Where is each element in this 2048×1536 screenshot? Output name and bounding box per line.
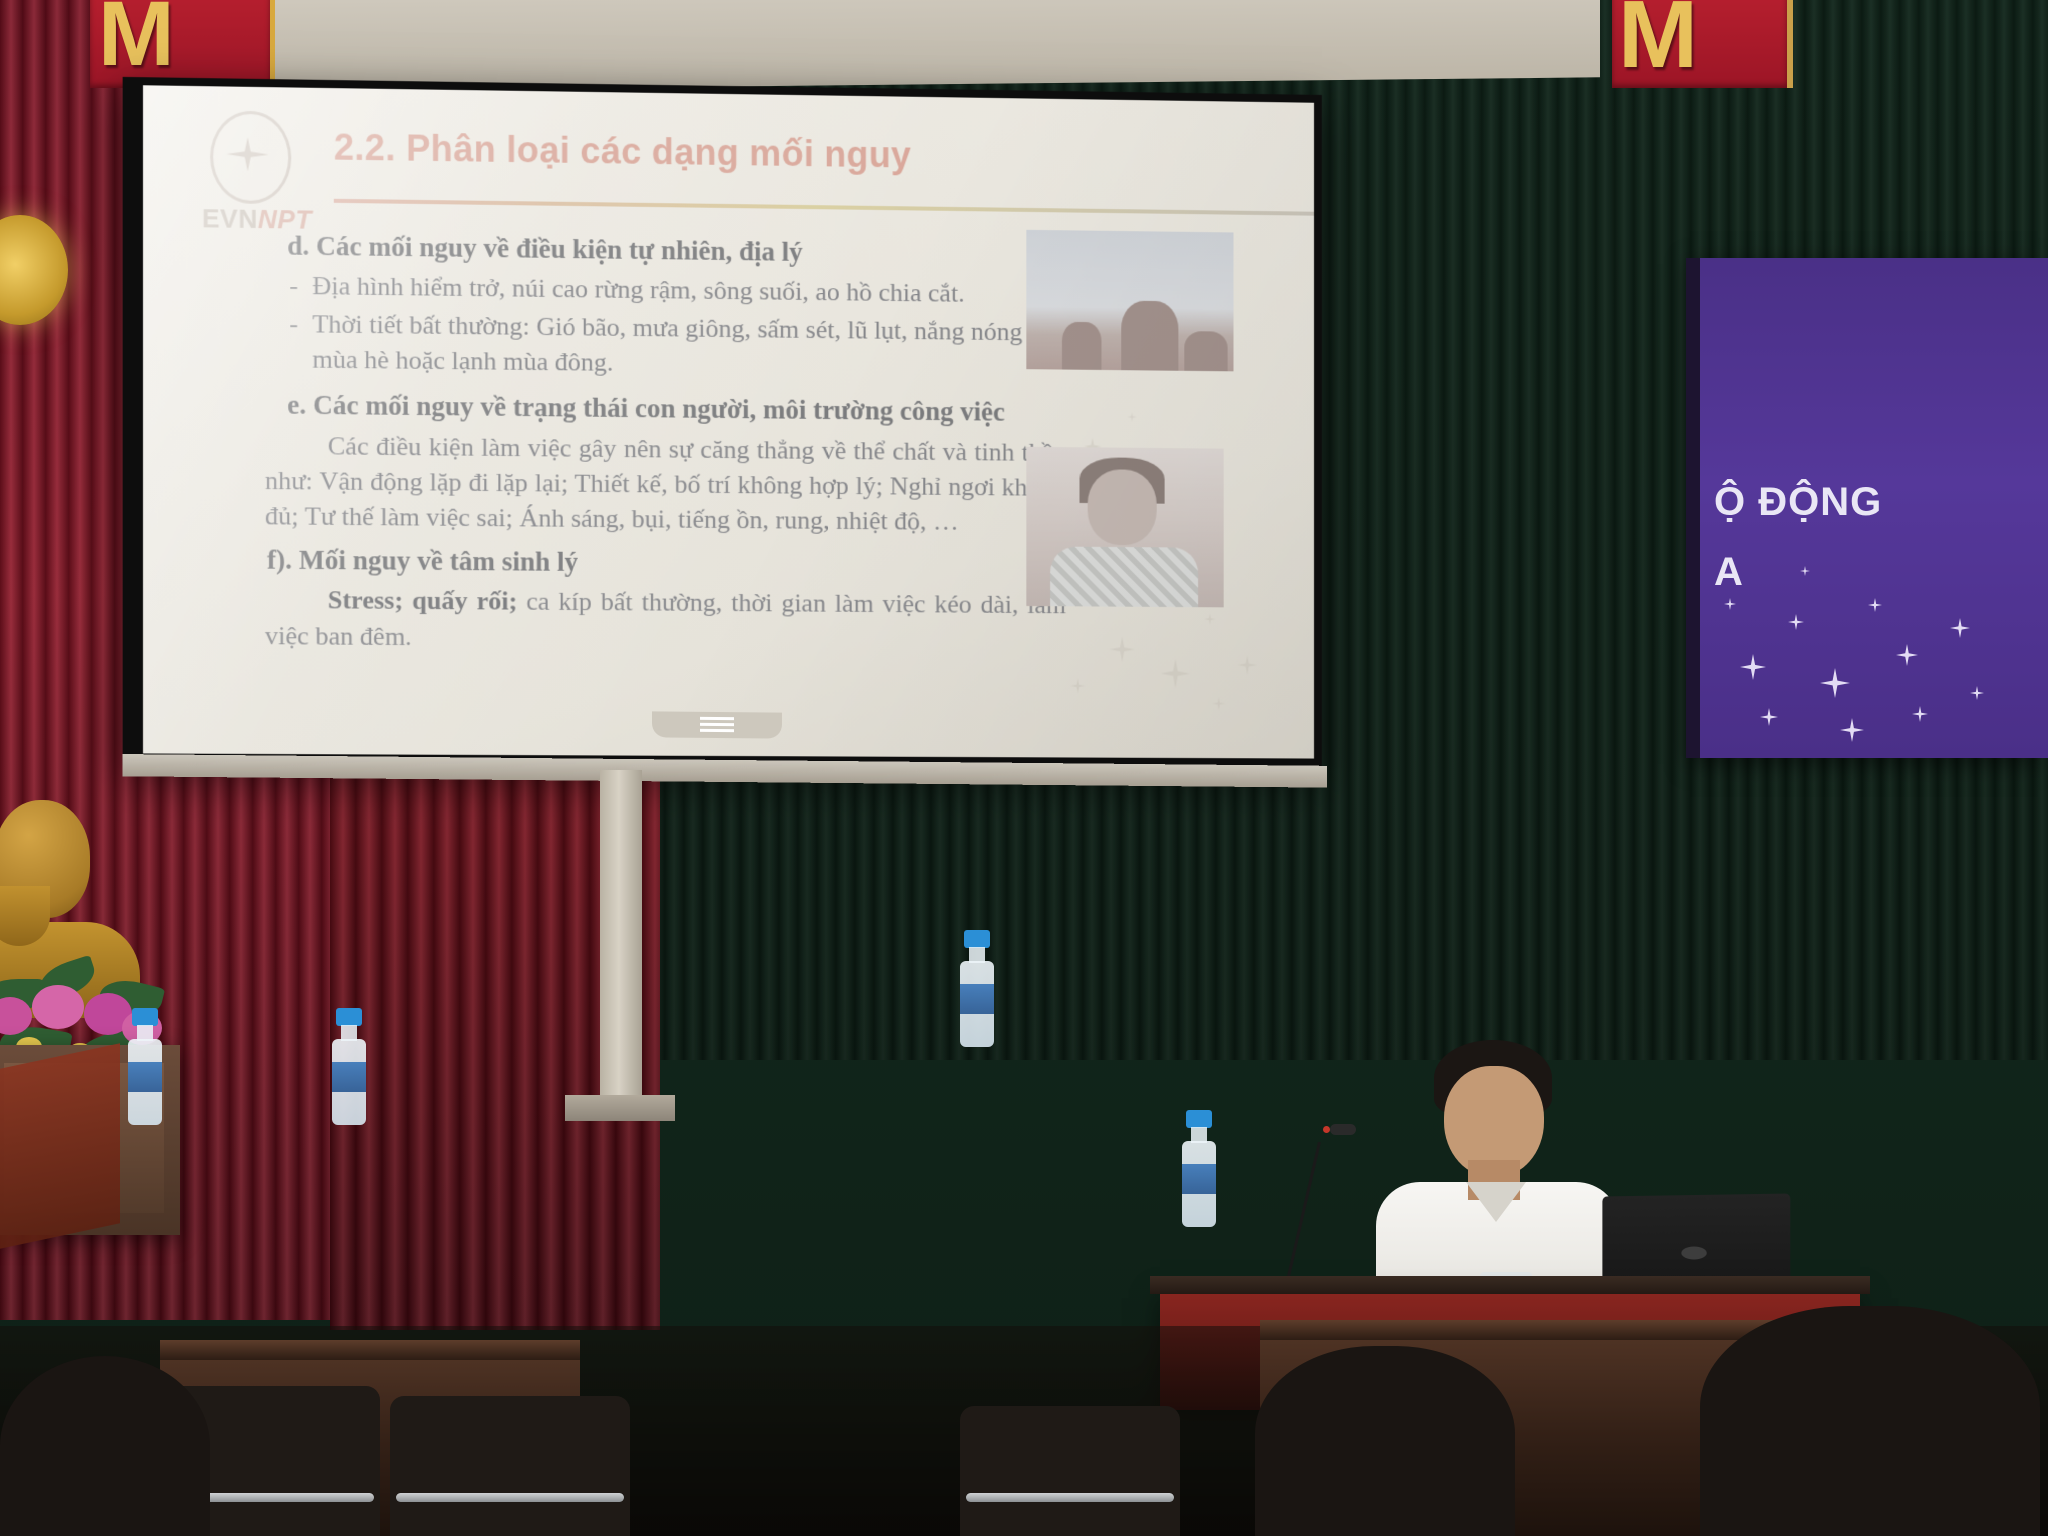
bullet-marker-icon: - (289, 268, 298, 303)
ceiling-soffit (130, 0, 1600, 93)
audience-head-silhouette (0, 1356, 210, 1536)
slide-body: d. Các mối nguy về điều kiện tự nhiên, đ… (265, 228, 1066, 662)
banner-edge-shadow (1686, 258, 1700, 758)
table-lip (160, 1340, 580, 1360)
conference-room-scene: M M Ộ ĐỘNG A (0, 0, 2048, 1536)
section-e-heading: e. Các mối nguy về trạng thái con người,… (287, 388, 1066, 431)
projector-screen-pull-handle[interactable] (652, 711, 782, 738)
red-carpet (0, 1043, 120, 1249)
handle-grip-lines (700, 717, 734, 733)
projected-slide: EVNNPT 2.2. Phân loại các dạng mối nguy … (143, 85, 1314, 758)
bullet-text: Thời tiết bất thường: Gió bão, mưa giông… (312, 308, 1066, 386)
chair-rail (396, 1493, 624, 1502)
title-divider (334, 199, 1314, 216)
photo-head (1088, 469, 1157, 545)
bottle-label (128, 1062, 162, 1092)
banner-letter-left: M (98, 0, 175, 87)
section-f-heading: f). Mối nguy về tâm sinh lý (267, 542, 1066, 584)
projection-screen: EVNNPT 2.2. Phân loại các dạng mối nguy … (123, 77, 1322, 771)
audience-head-silhouette (1255, 1346, 1515, 1536)
weather-storm-photo (1026, 230, 1233, 372)
logo-evn-text: EVN (202, 203, 258, 234)
head-table-top (1150, 1276, 1870, 1294)
bottle-label (960, 984, 994, 1014)
banner-letter-right: M (1618, 0, 1698, 90)
section-d-bullet-2: - Thời tiết bất thường: Gió bão, mưa giô… (289, 307, 1066, 385)
seated-presenter (1370, 1040, 1630, 1310)
purple-banner-line1: Ộ ĐỘNG (1714, 480, 1882, 525)
section-f-paragraph: Stress; quấy rối; ca kíp bất thường, thờ… (265, 582, 1066, 658)
stressed-person-photo (1026, 447, 1223, 608)
purple-standee-banner: Ộ ĐỘNG A (1700, 258, 2048, 758)
section-e-paragraph: Các điều kiện làm việc gây nên sự căng t… (265, 427, 1066, 540)
audience-chair (960, 1406, 1180, 1536)
bullet-text: Địa hình hiểm trở, núi cao rừng rậm, sôn… (312, 269, 1066, 313)
audience-head-silhouette (1700, 1306, 2040, 1536)
logo-ring (210, 110, 291, 204)
slide-title: 2.2. Phân loại các dạng mối nguy (334, 126, 911, 176)
microphone-head (1330, 1124, 1356, 1135)
section-d-bullet-1: - Địa hình hiểm trở, núi cao rừng rậm, s… (289, 268, 1066, 312)
slide-content: EVNNPT 2.2. Phân loại các dạng mối nguy … (143, 85, 1314, 758)
bottle-cap (132, 1008, 158, 1026)
laptop-logo (1681, 1246, 1706, 1259)
red-banner-left: M (90, 0, 275, 88)
screen-support-pole (600, 770, 642, 1100)
section-e-paragraph-text: Các điều kiện làm việc gây nên sự căng t… (265, 431, 1066, 536)
section-d-heading: d. Các mối nguy về điều kiện tự nhiên, đ… (287, 228, 1066, 273)
bottle-cap (336, 1008, 362, 1026)
chair-rail (966, 1493, 1174, 1502)
bottle-label (1182, 1164, 1216, 1194)
bottle-cap (964, 930, 990, 948)
screen-pole-base (565, 1095, 675, 1121)
section-f-lead-text: Stress; quấy rối; (328, 586, 518, 616)
evn-logo: EVNNPT (202, 110, 295, 208)
audience-chair (390, 1396, 630, 1536)
bottle-label (332, 1062, 366, 1092)
bullet-marker-icon: - (289, 307, 298, 377)
photo-shirt (1050, 546, 1198, 607)
red-banner-right: M (1612, 0, 1793, 88)
purple-banner-sparkles (1700, 558, 2048, 758)
bottle-cap (1186, 1110, 1212, 1128)
microphone-led (1323, 1126, 1330, 1133)
